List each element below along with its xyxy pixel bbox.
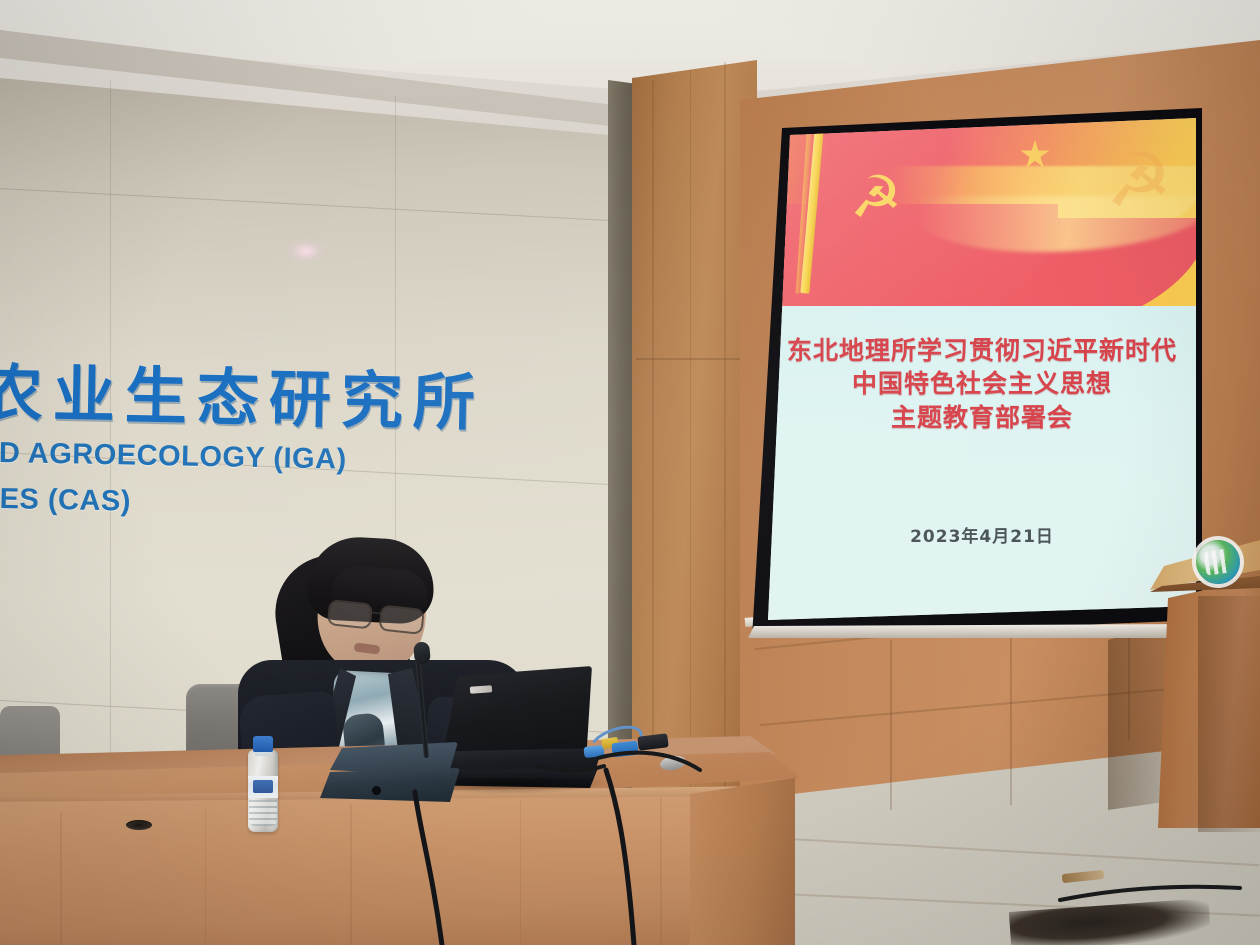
water-bottle [246, 736, 280, 832]
microphone-capsule-icon [413, 641, 431, 664]
wood-grain-line [724, 62, 726, 822]
eyeglass-lens [378, 604, 424, 634]
wood-grain-line [60, 812, 62, 945]
podium-side-shading [1198, 596, 1260, 832]
wood-panel-seam [636, 358, 756, 360]
bottle-label [248, 776, 278, 798]
bottle-cap [253, 736, 273, 752]
projection-screen: ☭ ☭ 东北地理所学习贯彻习近平新时代 中国特色社会主义思想 主题教育部署会 2… [768, 118, 1196, 620]
slide-content: ☭ ☭ 东北地理所学习贯彻习近平新时代 中国特色社会主义思想 主题教育部署会 2… [768, 118, 1196, 620]
wood-grain-line [660, 798, 662, 945]
wood-panel-seam [1010, 630, 1012, 805]
microphone-button[interactable] [372, 786, 381, 795]
photo-scene: 与农业生态研究所 HY AND AGROECOLOGY (IGA) CIENCE… [0, 0, 1260, 945]
slide-title-line-2: 中国特色社会主义思想 [768, 367, 1196, 400]
desk-front-panel [0, 796, 790, 945]
wood-grain-line [350, 804, 352, 945]
microphone-base [320, 768, 460, 802]
hammer-and-sickle-icon: ☭ [1106, 144, 1172, 218]
cable-grommet-icon [126, 820, 152, 830]
bottle-ribs [249, 800, 277, 826]
wall-signage: 与农业生态研究所 HY AND AGROECOLOGY (IGA) CIENCE… [0, 361, 609, 527]
slide-date: 2023年4月21日 [768, 522, 1196, 547]
wood-grain-line [520, 800, 521, 945]
vga-connector-blue [611, 741, 638, 758]
signage-chinese-text: 与农业生态研究所 [0, 361, 609, 436]
hammer-and-sickle-icon: ☭ [850, 168, 902, 226]
eyeglass-lens [327, 599, 373, 629]
wood-grain-line [690, 70, 691, 810]
slide-title-line-1: 东北地理所学习贯彻习近平新时代 [768, 334, 1196, 367]
signage-english-line1: HY AND AGROECOLOGY (IGA) [0, 435, 608, 481]
wood-grain-line [205, 808, 206, 945]
wood-grain-line [652, 80, 654, 780]
slide-title-line-3: 主题教育部署会 [768, 401, 1196, 434]
vga-connector-blue [583, 745, 604, 758]
slide-title: 东北地理所学习贯彻习近平新时代 中国特色社会主义思想 主题教育部署会 [768, 334, 1196, 434]
projection-screen-roller-bar [748, 624, 1204, 638]
wall-light-reflection [285, 238, 327, 264]
